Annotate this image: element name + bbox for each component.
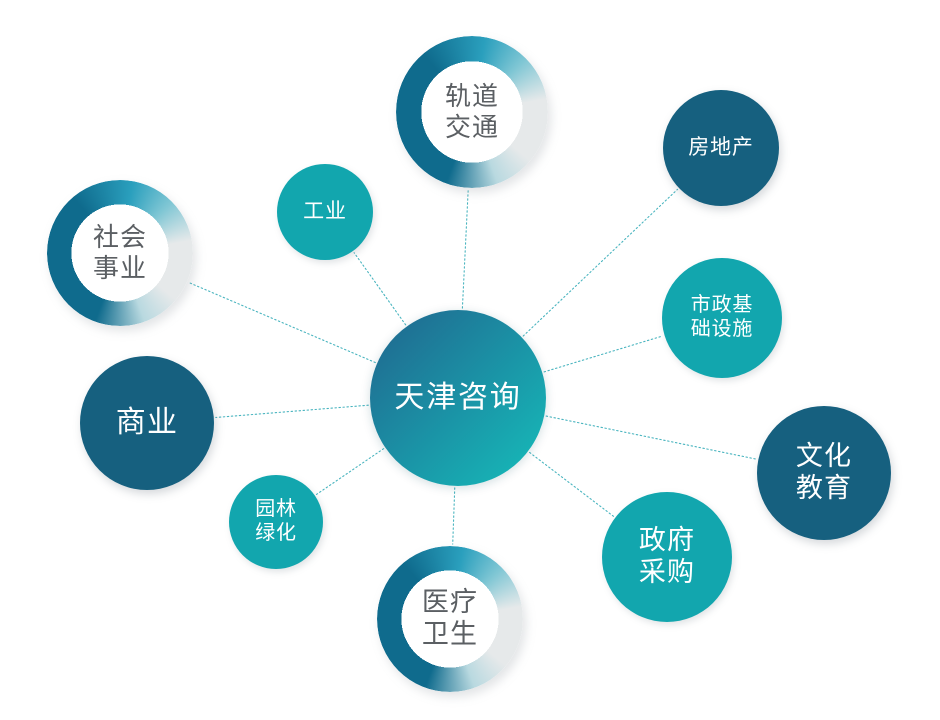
connector-tianjin-consulting-to-commerce <box>216 405 369 417</box>
node-landscaping[interactable]: 园林 绿化 <box>229 475 323 569</box>
node-label-social-undertakings: 社会 事业 <box>93 222 147 283</box>
connector-tianjin-consulting-to-landscaping <box>316 449 383 495</box>
connector-tianjin-consulting-to-social-undertakings <box>189 283 375 363</box>
connector-tianjin-consulting-to-medical-health <box>453 488 455 544</box>
node-medical-health[interactable]: 医疗 卫生 <box>377 546 523 692</box>
node-commerce[interactable]: 商业 <box>80 356 214 490</box>
node-government-procurement[interactable]: 政府 采购 <box>602 492 732 622</box>
node-label-landscaping: 园林 绿化 <box>255 498 297 545</box>
diagram-canvas: 天津咨询轨道 交通房地产市政基 础设施文化 教育政府 采购医疗 卫生园林 绿化商… <box>0 0 940 720</box>
node-culture-education[interactable]: 文化 教育 <box>757 406 891 540</box>
node-label-commerce: 商业 <box>116 405 178 440</box>
node-label-rail-transit: 轨道 交通 <box>445 81 499 142</box>
connector-tianjin-consulting-to-municipal-infrastructure <box>544 336 663 372</box>
node-label-medical-health: 医疗 卫生 <box>422 587 478 651</box>
node-label-culture-education: 文化 教育 <box>796 441 852 505</box>
node-tianjin-consulting[interactable]: 天津咨询 <box>370 310 546 486</box>
node-label-municipal-infrastructure: 市政基 础设施 <box>691 294 753 341</box>
connector-tianjin-consulting-to-rail-transit <box>462 190 468 308</box>
node-rail-transit[interactable]: 轨道 交通 <box>396 36 548 188</box>
node-social-undertakings[interactable]: 社会 事业 <box>47 180 193 326</box>
node-label-government-procurement: 政府 采购 <box>639 525 695 589</box>
node-label-real-estate: 房地产 <box>688 136 754 161</box>
node-label-industry: 工业 <box>303 200 347 225</box>
connector-tianjin-consulting-to-industry <box>354 253 406 325</box>
node-industry[interactable]: 工业 <box>277 164 373 260</box>
node-real-estate[interactable]: 房地产 <box>663 90 779 206</box>
node-municipal-infrastructure[interactable]: 市政基 础设施 <box>662 258 782 378</box>
connector-tianjin-consulting-to-government-procurement <box>530 452 614 516</box>
node-label-tianjin-consulting: 天津咨询 <box>394 380 521 415</box>
connector-tianjin-consulting-to-culture-education <box>546 416 756 459</box>
connector-tianjin-consulting-to-real-estate <box>523 189 677 336</box>
